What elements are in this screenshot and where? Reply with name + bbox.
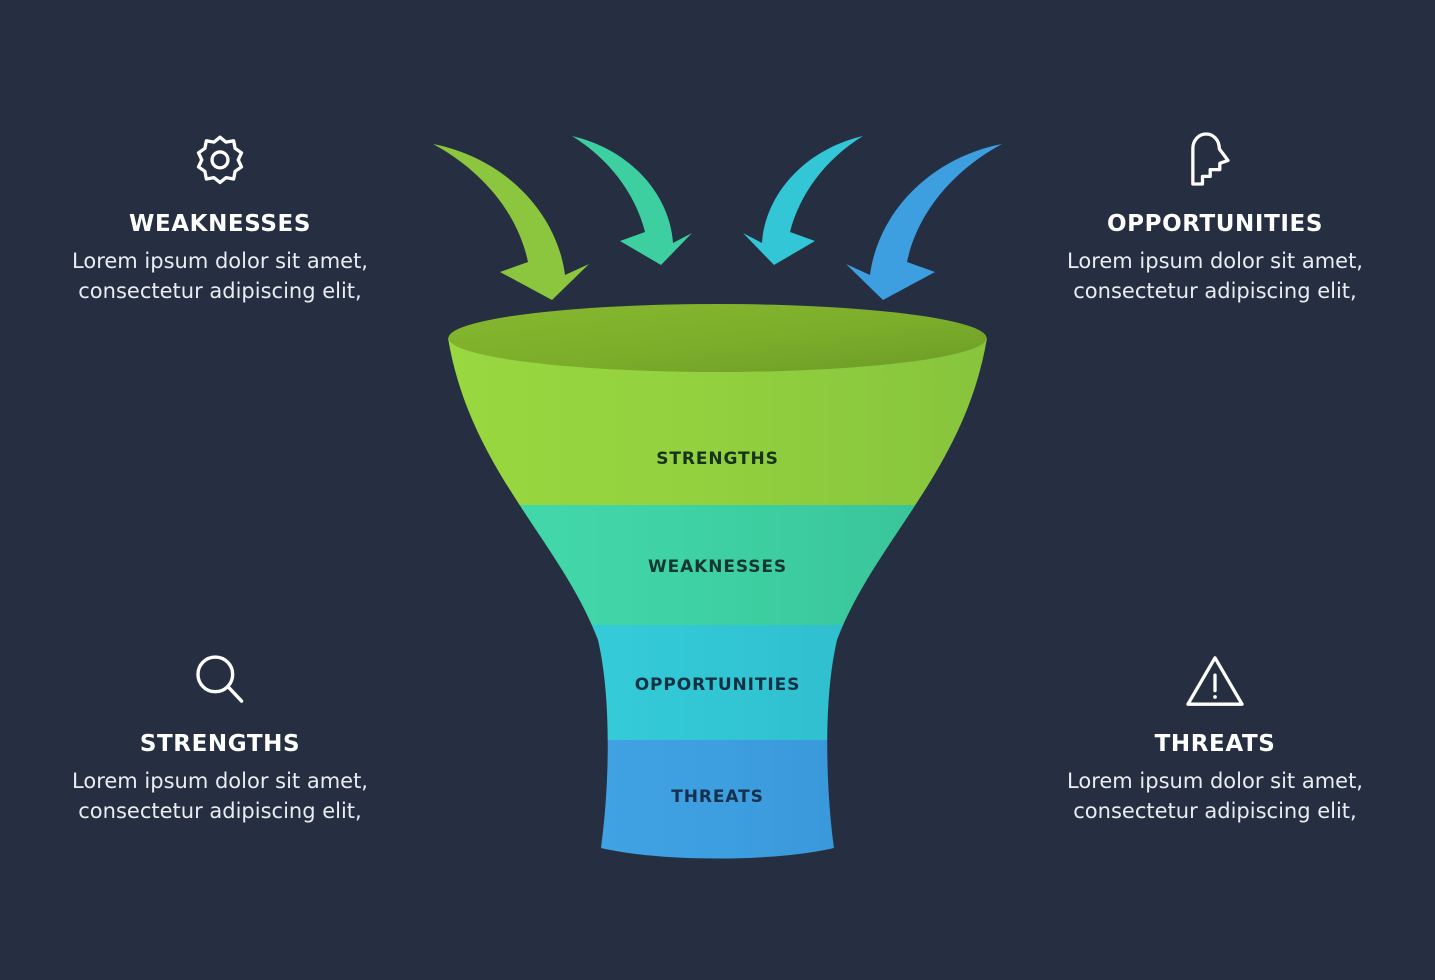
info-block-strengths[interactable]: STRENGTHS Lorem ipsum dolor sit amet, co…: [55, 632, 385, 827]
head-profile-icon: [1050, 112, 1380, 190]
info-desc-opportunities: Lorem ipsum dolor sit amet, consectetur …: [1050, 247, 1380, 307]
info-block-threats[interactable]: THREATS Lorem ipsum dolor sit amet, cons…: [1050, 632, 1380, 827]
funnel-label-weaknesses: WEAKNESSES: [0, 557, 1435, 577]
info-title-strengths: STRENGTHS: [55, 732, 385, 757]
warning-triangle-icon: [1050, 632, 1380, 710]
funnel-label-strengths: STRENGTHS: [0, 449, 1435, 469]
funnel-rim-ellipse: [449, 304, 987, 372]
inflow-arrow-1: [433, 144, 589, 300]
info-title-weaknesses: WEAKNESSES: [55, 212, 385, 237]
inflow-arrow-3: [743, 136, 863, 265]
info-title-opportunities: OPPORTUNITIES: [1050, 212, 1380, 237]
gear-icon: [55, 112, 385, 190]
funnel-band-strengths: [400, 330, 1040, 505]
inflow-arrow-4: [846, 144, 1002, 300]
info-desc-strengths: Lorem ipsum dolor sit amet, consectetur …: [55, 767, 385, 827]
inflow-arrow-2: [572, 136, 692, 265]
magnifier-icon: [55, 632, 385, 710]
info-block-opportunities[interactable]: OPPORTUNITIES Lorem ipsum dolor sit amet…: [1050, 112, 1380, 307]
info-title-threats: THREATS: [1050, 732, 1380, 757]
info-block-weaknesses[interactable]: WEAKNESSES Lorem ipsum dolor sit amet, c…: [55, 112, 385, 307]
funnel-band-threats: [400, 740, 1040, 875]
info-desc-threats: Lorem ipsum dolor sit amet, consectetur …: [1050, 767, 1380, 827]
infographic-canvas: STRENGTHS WEAKNESSES OPPORTUNITIES THREA…: [0, 0, 1435, 980]
info-desc-weaknesses: Lorem ipsum dolor sit amet, consectetur …: [55, 247, 385, 307]
